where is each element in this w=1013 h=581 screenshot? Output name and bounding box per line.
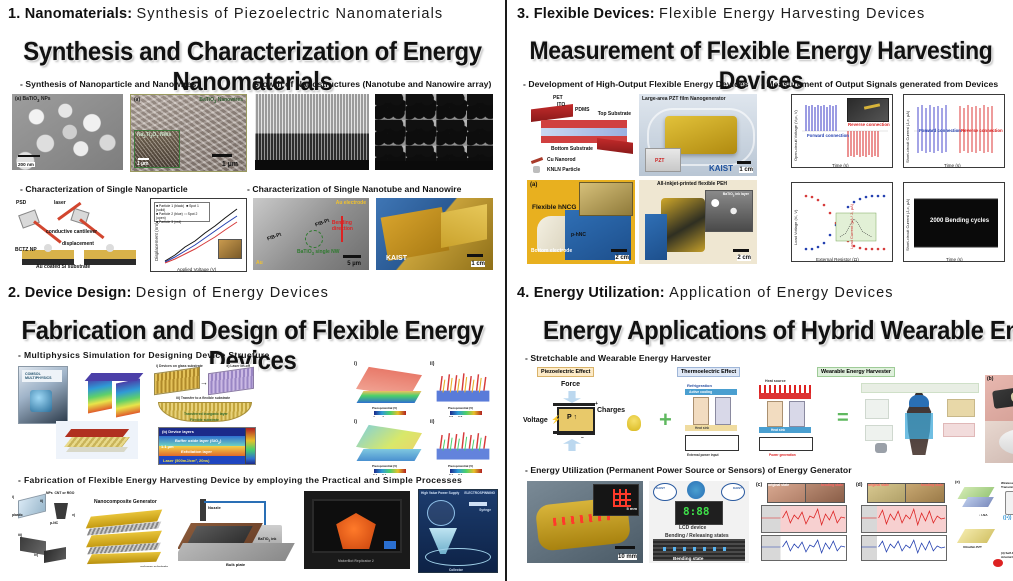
- section-number-3: 3.: [517, 6, 530, 22]
- label-laser-liftoff: ii) Laser lift-off: [226, 364, 250, 368]
- label-heat-sink: Heat sink: [695, 426, 709, 430]
- label-minus: −: [581, 435, 584, 441]
- label-ito: ITO: [557, 102, 565, 108]
- step-ii: ii): [40, 499, 43, 503]
- colorbar-label: Piezopotential (V): [448, 406, 473, 410]
- chart-isc-time: Forward connection Reverse connection Sh…: [903, 94, 1005, 168]
- figure-stretchable-seg-photo: (b) ~200% Stretchable SEG Stretched 100%…: [985, 375, 1013, 421]
- subhead-3-2: - Measurement of Output Signals generate…: [761, 79, 998, 89]
- section-number-2: 2.: [8, 285, 21, 301]
- label-kaist: KAIST: [386, 255, 407, 262]
- figure-nanowire-array-sem: [255, 94, 369, 170]
- section-keyword-1: Nanomaterials:: [25, 6, 133, 22]
- chart-ylabel: Open-circuit Voltage (Vₒᴄ, V): [793, 110, 798, 161]
- sublabel-original: original state: [768, 483, 789, 487]
- panel-label: (e): [955, 479, 960, 484]
- label-batio3-ink: BaTiO3 ink: [258, 537, 276, 543]
- scale-label: 1 cm: [471, 261, 485, 267]
- logo-kaist-1: KAIST: [656, 486, 665, 490]
- figure-batio3-nanowire-sem: (a) BaTiO3 Nanowires Na2Ti3O7 NWs 1 µm 1…: [130, 94, 247, 172]
- figure-laser-thermal-simulation: (b) Device layers Buffer oxide layer (Si…: [158, 427, 256, 465]
- scale-label: 200 nm: [17, 162, 35, 167]
- scale-label: 2 cm: [737, 255, 751, 261]
- watermark-kaist: KAIST: [709, 164, 733, 173]
- label-buffer-oxide: Buffer oxide layer (SiO2): [175, 438, 221, 445]
- figure-3d-printer-photo: MakerBot Replicator 2: [304, 491, 410, 569]
- chart-displacement-voltage: ■ Particle 1 (black) ■ Spot 1 (solid) ■ …: [150, 198, 247, 272]
- label-fib-pt-2: FIB-Pt: [314, 218, 330, 229]
- label-charges: Charges: [597, 407, 625, 414]
- panel-label: (c): [756, 482, 762, 488]
- figure-inkjet-printing-schematic: Nozzle BaTiO3 ink Bulk plate: [178, 495, 298, 569]
- poster-root: 1. Nanomaterials: Synthesis of Piezoelec…: [0, 0, 1013, 581]
- figure-label: (a) BaTiO3 NPs: [15, 96, 51, 103]
- section-subtitle-4: Application of Energy Devices: [669, 285, 894, 301]
- sublabel-original: original state: [868, 483, 889, 487]
- panel-label: i): [354, 419, 357, 425]
- annotation-p-hnc: p-hNC: [571, 232, 586, 238]
- label-pet: PET: [553, 95, 563, 101]
- chart-voc-time: Forward connection Reverse connection Op…: [791, 94, 893, 168]
- figure-wearable-energy-harvester: [859, 379, 981, 461]
- figure-device-layer-simulation: [56, 421, 138, 459]
- label-p-arrow: P ↑: [567, 414, 577, 421]
- label-pulse-monitoring: (ii) Self-Powered Real-TimeArterial Puls…: [1001, 551, 1013, 559]
- panel-label: (a): [530, 182, 537, 188]
- label-psd: PSD: [16, 200, 26, 206]
- figure-piezopotential-sim-iii: i) Piezopotential (V) -0.1 0.1: [352, 419, 424, 475]
- label-plastic: plastic: [12, 513, 23, 517]
- subhead-4-2: - Energy Utilization (Permanent Power So…: [525, 465, 852, 475]
- label-cantilever: conductive cantilever: [46, 229, 97, 235]
- lcd-readout: 8:88: [683, 505, 710, 518]
- figure-led-array-device-photo: 5 mm 10 mm: [527, 481, 643, 563]
- chart-xlabel: Time (s): [832, 163, 849, 168]
- subhead-1-2: - Growth of Nanostructures (Nanotube and…: [247, 79, 491, 89]
- scale-label: 10 mm: [618, 554, 637, 560]
- label-pdms: PDMS: [575, 107, 589, 113]
- figure-device-stack-schematic: PET ITO PDMS Top Substrate Bottom Substr…: [527, 94, 635, 176]
- sublabel-bending: bending state: [921, 483, 943, 487]
- wifi-icon: ((•)): [1003, 515, 1011, 521]
- label-transferred-layer: Transferred inorganic layer: [184, 412, 228, 416]
- label-printer-model: MakerBot Replicator 2: [338, 559, 374, 563]
- label-bulk-plate: Bulk plate: [226, 562, 245, 567]
- section-keyword-4: Energy Utilization:: [534, 285, 665, 301]
- scale-label: 2 cm: [615, 255, 629, 261]
- label-au: Au: [256, 260, 263, 266]
- section-subtitle-3: Flexible Energy Harvesting Devices: [659, 6, 925, 22]
- label-syringe: Syringe: [479, 508, 491, 512]
- figure-piezopotential-sim-i: i) Piezopotential (V) -4 4: [352, 361, 424, 417]
- section-heading-2: 2. Device Design: Design of Energy Devic…: [8, 285, 329, 301]
- chart-ylabel: Short-circuit Current (Jₛᴄ, µA): [905, 111, 910, 163]
- subhead-1-3: - Characterization of Single Nanoparticl…: [20, 184, 188, 194]
- banner-title-4: Energy Applications of Hybrid Wearable E…: [515, 315, 1013, 345]
- figure-piezopotential-sim-iv: ii) Piezopotential (V) -0.1 0.1: [428, 419, 498, 475]
- section-subtitle-2: Design of Energy Devices: [136, 285, 329, 301]
- subhead-1-4: - Characterization of Single Nanotube an…: [247, 184, 462, 194]
- label-devices-on-glass: i) Devices on glass substrate: [156, 364, 203, 368]
- inset-label-pzt: PZT: [655, 158, 664, 164]
- tag-wearable-harvester: Wearable Energy Harvester: [817, 367, 895, 377]
- figure-arterial-pulse-monitoring-schematic: (e) Ultrathin PZT ↓ LNA ((•)) Wireless S…: [953, 477, 1013, 569]
- chart-ylabel: Displacement (nm): [154, 222, 159, 261]
- label-hv-supply: High Value Power Supply: [421, 491, 459, 495]
- section-subtitle-1: Synthesis of Piezoelectric Nanomaterials: [137, 6, 444, 22]
- label-exfoliation: Exfoliation layer: [181, 449, 212, 454]
- label-heat-source: Heat source: [765, 379, 786, 383]
- step-i: i): [12, 495, 14, 499]
- sublabel-bending: bending state: [821, 483, 843, 487]
- colorbar-range: -0.5 0.5: [448, 415, 462, 417]
- section-keyword-2: Device Design:: [25, 285, 132, 301]
- panel-label: i): [354, 361, 357, 367]
- subhead-3-1: - Development of High-Output Flexible En…: [523, 79, 749, 89]
- label-bending-direction: Bendingdirection: [332, 220, 353, 232]
- figure-pulse-signal-plot-d: (d) original state bending state: [855, 481, 949, 563]
- colorbar-label: Piezopotential (V): [448, 464, 473, 468]
- chart-ylabel-right: Load Current (µA / Jₗ, µA): [849, 204, 854, 249]
- quadrant-device-design: 2. Device Design: Design of Energy Devic…: [0, 279, 505, 581]
- panel-label: (b): [987, 376, 993, 382]
- section-number-4: 4.: [517, 285, 530, 301]
- chart-load-voltage-resistor: Load Voltage (Vₗ, V) Load Current (µA / …: [791, 182, 893, 262]
- section-heading-3: 3. Flexible Devices: Flexible Energy Har…: [517, 6, 925, 22]
- label-polymer-substrate: polymer substrate: [140, 565, 168, 567]
- label-electrospinning: ELECTROSPINNING: [464, 491, 495, 495]
- chart-ylabel: Load Voltage (Vₗ, V): [793, 210, 798, 245]
- figure-thermoelectric-diagram: Refrigeration Active cooling Heat sink E…: [677, 379, 829, 457]
- operator-equals: =: [837, 407, 849, 430]
- annotation-bottom-electrode: Bottom electrode: [531, 248, 572, 254]
- inset-scale-label: 5 mm: [627, 506, 637, 511]
- step-iv: iv): [34, 553, 38, 557]
- figure-piezopotential-sim-ii: ii) Piezopotential (V) -0.5 0.5: [428, 361, 498, 417]
- label-pzt-title: Large-area PZT film Nanogenerator: [642, 96, 726, 102]
- annotation-forward: Forward connection: [807, 133, 849, 138]
- label-transfer: iii) Transfer to a flexible substrate: [176, 396, 230, 400]
- label-thickness: 1.1 µm: [161, 444, 174, 449]
- chart-xlabel: Time (s): [944, 163, 961, 168]
- annotation-reverse: Reverse connection: [848, 122, 890, 127]
- label-device-layers: (b) Device layers: [162, 429, 194, 434]
- step-v: v): [72, 513, 75, 517]
- label-ultrathin-pzt: Ultrathin PZT: [963, 545, 982, 549]
- label-ncg-title: Nanocomposite Generator: [94, 499, 157, 505]
- label-nps-cnt: NPs CNT or RGO: [46, 491, 74, 495]
- figure-lcd-device-photo: KAIST KAIST 8:88 LCD device Bending / Re…: [649, 481, 749, 563]
- inset-scale-label: 1 µm: [137, 161, 149, 167]
- inset-label: Na2Ti3O7 NWs: [137, 132, 171, 139]
- label-peh-title: All-inkjet-printed flexible PEH: [657, 181, 727, 187]
- subhead-1-1: - Synthesis of Nanoparticle and Nanowire…: [20, 79, 196, 89]
- label-bctz: BCTZ NP: [15, 247, 37, 253]
- figure-comsol-multiphysics-box: COMSOLMULTIPHYSICS: [14, 364, 72, 426]
- colorbar-range: -4 4: [372, 415, 384, 417]
- chart-ylabel: Short-circuit Current (Jₛᴄ, µA): [905, 199, 910, 251]
- subhead-2-2: - Fabrication of Flexible Energy Harvest…: [18, 475, 462, 485]
- annotation-forward: Forward connection: [919, 128, 961, 133]
- figure-batio3-nanoparticle-sem: (a) BaTiO3 NPs 200 nm: [12, 94, 123, 170]
- label-lcd-device: LCD device: [679, 525, 706, 531]
- figure-laser-liftoff-schematic: i) Devices on glass substrate ii) Laser …: [150, 364, 258, 426]
- label-single-nw: BaTiO3 single NW: [297, 249, 340, 256]
- label-nozzle: Nozzle: [208, 505, 221, 510]
- quadrant-energy-utilization: 4. Energy Utilization: Application of En…: [509, 279, 1013, 581]
- legend-knln-particle: KNLN Particle: [547, 167, 580, 173]
- label-substrate: Au coated Si substrate: [36, 264, 90, 270]
- figure-nanotube-array-sem: [375, 94, 493, 170]
- label-active-cooling: Active cooling: [689, 390, 712, 394]
- label-fib-pt-1: FIB-Pt: [266, 232, 282, 243]
- label-laser-params: Laser (500mJ/cm², 20ns): [163, 458, 209, 463]
- column-divider: [505, 0, 507, 581]
- scale-label: 1 cm: [739, 167, 753, 173]
- annotation-reverse: Reverse connection: [961, 128, 1003, 133]
- label-voltage: Voltage: [523, 417, 548, 424]
- label-collector: Collector: [449, 568, 463, 572]
- label-wireless-tx: Wireless SignalTransmission: [1001, 481, 1013, 489]
- subhead-2-1: - Multiphysics Simulation for Designing …: [18, 350, 270, 360]
- label-comsol: COMSOLMULTIPHYSICS: [25, 372, 52, 380]
- figure-pulse-signal-plot-c: (c) original state bending state: [755, 481, 849, 563]
- figure-flexible-device-in-hand-photo: KAIST 1 cm: [376, 198, 493, 270]
- tag-piezoelectric-effect: Piezoelectric Effect: [537, 367, 594, 377]
- figure-piezoelectric-diagram: Force P ↑ + − Charges Voltage ⚡: [523, 379, 653, 457]
- chart-xlabel: Time (s): [946, 257, 963, 262]
- label-laser: laser: [54, 200, 66, 206]
- chart-bending-cycles: 2000 Bending cycles Short-circuit Curren…: [903, 182, 1005, 262]
- figure-corner-label: BaTiO3 Nanowires: [199, 97, 243, 104]
- annotation-bending-cycles: 2000 Bending cycles: [930, 218, 989, 224]
- figure-inkjet-printed-peh-photo: All-inkjet-printed flexible PEH BaTiO3 i…: [639, 180, 757, 264]
- logo-kaist-2: KAIST: [733, 486, 742, 490]
- label-lna: ↓ LNA: [979, 513, 988, 517]
- label-external-power: External power input: [687, 453, 719, 457]
- label-refrigeration: Refrigeration: [687, 383, 712, 388]
- label-p-nc: p-NC: [50, 521, 58, 525]
- label-flexible-substrate: Flexible substrate: [190, 418, 219, 422]
- scale-label: 1 µm: [222, 161, 238, 168]
- scale-label: 5 µm: [347, 261, 361, 267]
- section-keyword-3: Flexible Devices:: [534, 6, 655, 22]
- operator-plus: +: [659, 407, 672, 433]
- figure-large-area-pzt-photo: Large-area PZT film Nanogenerator PZT KA…: [639, 94, 757, 176]
- label-power-generation: Power generation: [769, 453, 796, 457]
- tag-thermoelectric-effect: Thermoelectric Effect: [677, 367, 740, 377]
- figure-electrospinning-schematic: High Value Power Supply ELECTROSPINNING …: [418, 489, 498, 573]
- label-heat-sink-2: Heat sink: [771, 428, 785, 432]
- chart-xlabel: Applied Voltage (V): [177, 267, 216, 272]
- figure-afm-piezo-schematic: PSD laser conductive cantilever BCTZ NP …: [14, 198, 144, 270]
- subhead-4-1: - Stretchable and Wearable Energy Harves…: [525, 353, 711, 363]
- panel-label: (d): [856, 482, 862, 488]
- label-top-substrate: Top Substrate: [598, 111, 631, 117]
- inset-nanowire: Na2Ti3O7 NWs 1 µm: [134, 130, 180, 168]
- label-displacement: displacement: [62, 241, 94, 247]
- colorbar-label: Piezopotential (V): [372, 464, 397, 468]
- label-bottom-substrate: Bottom Substrate: [551, 146, 593, 152]
- figure-nanocomposite-generator: Nanocomposite Generator BaTiO3 polymer s…: [84, 499, 170, 567]
- legend-cu-nanorod: Cu Nanorod: [547, 157, 576, 163]
- figure-stress-simulation-3d: [78, 367, 148, 425]
- section-heading-4: 4. Energy Utilization: Application of En…: [517, 285, 894, 301]
- figure-fib-single-nanowire-sem: Au electrode Au FIB-Pt FIB-Pt BaTiO3 sin…: [253, 198, 369, 270]
- chart-xlabel: External Resistor (Ω): [816, 257, 859, 262]
- figure-flexible-hncg-photo: (a) Flexible hNCG p-hNC Bottom electrode…: [527, 180, 635, 264]
- label-force: Force: [561, 381, 580, 388]
- figure-label: (a): [134, 97, 140, 103]
- label-au-electrode: Au electrode: [336, 200, 366, 206]
- inset-label-ink-layer: BaTiO3 ink layer: [723, 192, 749, 198]
- quadrant-nanomaterials: 1. Nanomaterials: Synthesis of Piezoelec…: [0, 0, 505, 279]
- colorbar-label: Piezopotential (V): [372, 406, 397, 410]
- section-number-1: 1.: [8, 6, 21, 22]
- figure-stretch-hands-photo: [985, 421, 1013, 463]
- section-heading-1: 1. Nanomaterials: Synthesis of Piezoelec…: [8, 6, 443, 22]
- quadrant-flexible-devices: 3. Flexible Devices: Flexible Energy Har…: [509, 0, 1013, 279]
- label-bending-state: Bending state: [673, 556, 703, 561]
